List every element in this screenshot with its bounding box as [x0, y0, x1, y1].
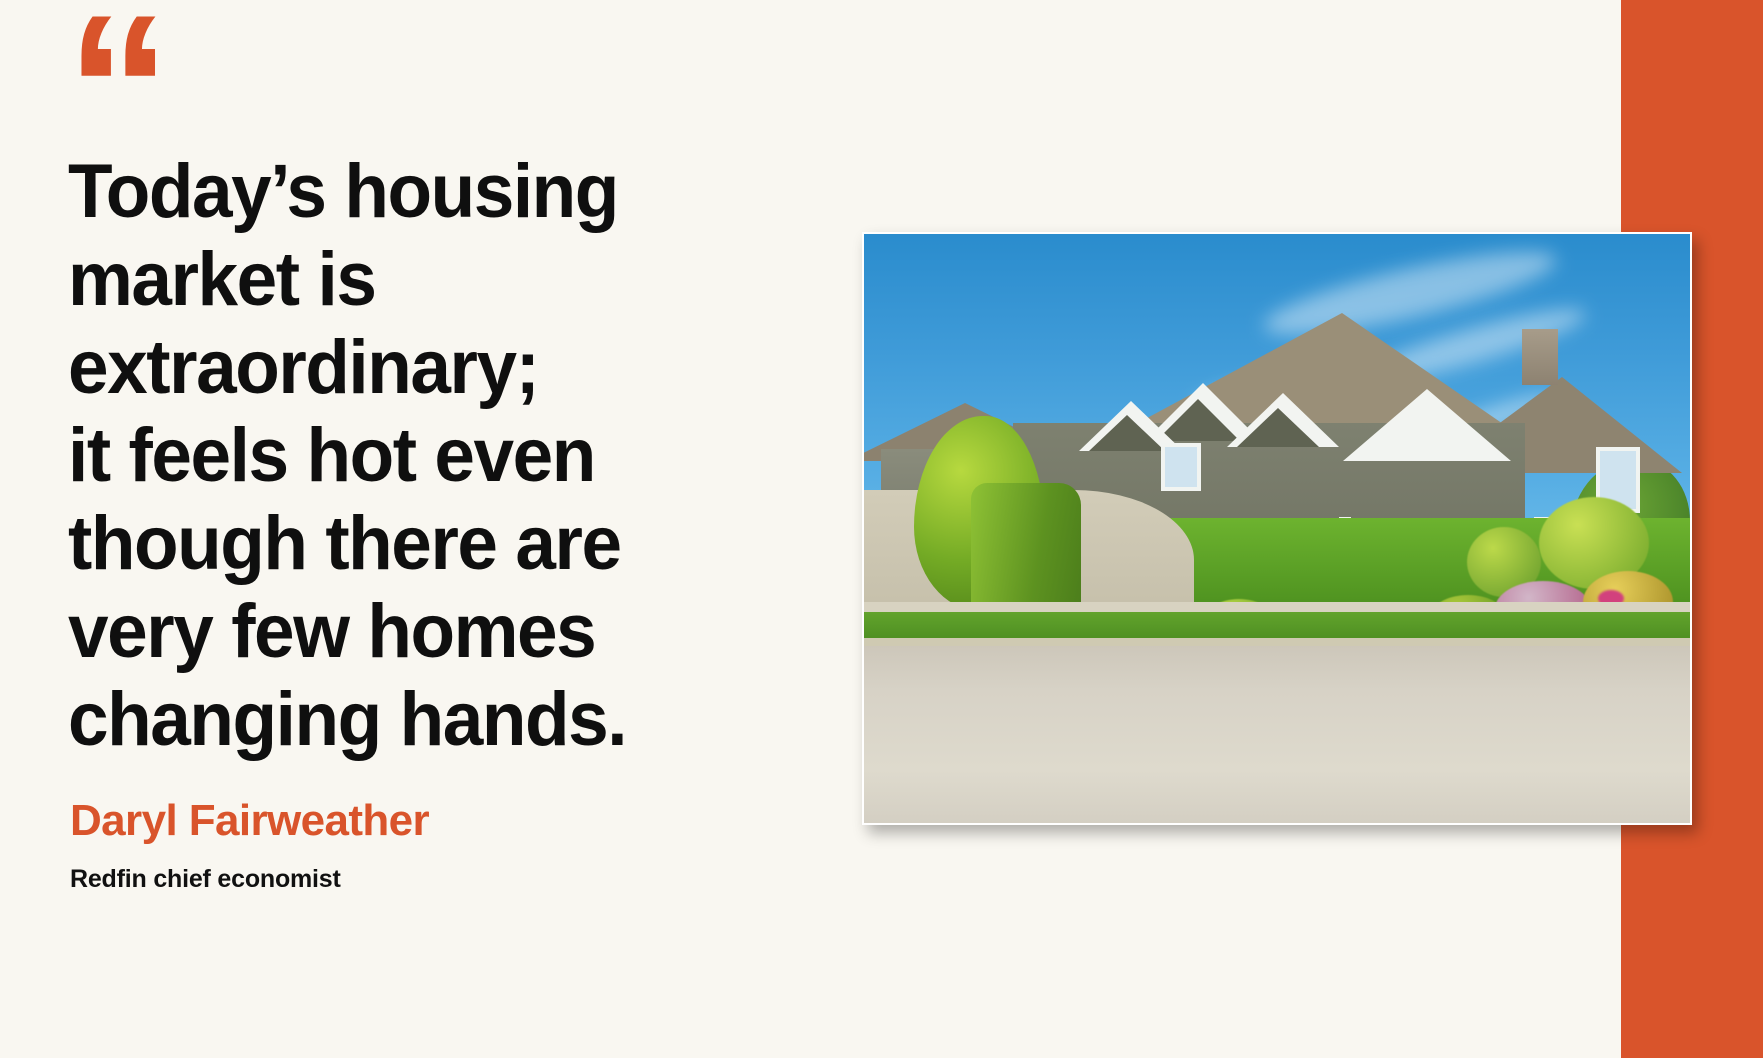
street [864, 646, 1690, 823]
quote-line: though there are [68, 500, 702, 588]
quote-card: “ Today’s housing market is extraordinar… [0, 0, 1763, 1058]
attribution-name: Daryl Fairweather [70, 795, 429, 847]
curb-grass-strip [864, 612, 1690, 640]
gable-infill [1089, 415, 1165, 451]
house-photo [862, 232, 1692, 825]
quote-line: Today’s housing [68, 148, 702, 236]
quote-text: Today’s housing market is extraordinary;… [68, 148, 728, 764]
quote-line: very few homes [68, 588, 702, 676]
chimney [1522, 329, 1558, 385]
gable-infill [1237, 408, 1319, 447]
quote-line: changing hands. [68, 676, 702, 764]
attribution-role: Redfin chief economist [70, 863, 429, 895]
house-photo-image [864, 234, 1690, 823]
dormer-window [1161, 443, 1201, 491]
curb [864, 638, 1690, 646]
quote-line: market is [68, 236, 702, 324]
quote-line: extraordinary; [68, 324, 702, 412]
attribution: Daryl Fairweather Redfin chief economist [70, 795, 429, 895]
gable [1343, 389, 1511, 461]
quote-line: it feels hot even [68, 412, 702, 500]
